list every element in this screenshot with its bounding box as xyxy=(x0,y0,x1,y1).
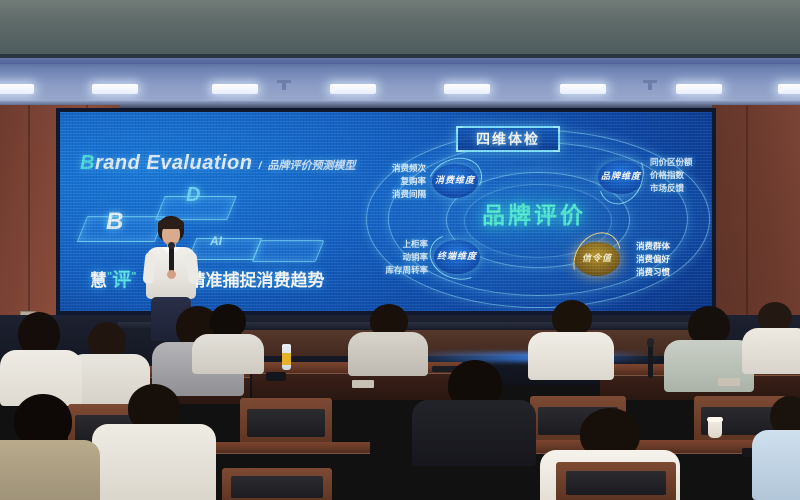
desk-microphone xyxy=(648,344,653,378)
tagline-quote-close: " xyxy=(131,270,136,282)
desk-nameplate xyxy=(352,380,374,388)
ceiling-light xyxy=(212,84,258,94)
ceiling-light xyxy=(560,84,606,94)
ceiling-sprinkler-icon xyxy=(648,80,652,90)
handheld-microphone-icon xyxy=(169,246,174,272)
diagram-items-terminal: 上柜率 动销率 库存周转率 xyxy=(354,238,428,278)
ceiling-edge xyxy=(0,101,800,108)
diagram-item: 消费频次 xyxy=(354,162,426,175)
diagram-items-brand: 同价区份额 价格指数 市场反馈 xyxy=(650,156,716,196)
slide-header: Brand Evaluation/品牌评价预测模型 xyxy=(80,152,356,175)
tagline-highlight: 评 xyxy=(112,270,131,291)
chair xyxy=(222,468,332,500)
diagram-node-terminal: 终端维度 xyxy=(434,240,480,274)
decor-platform-4 xyxy=(252,240,325,262)
ceiling-light xyxy=(330,84,376,94)
ceiling-strip xyxy=(0,58,800,64)
header-subtitle: 品牌评价预测模型 xyxy=(268,160,356,172)
diagram-item: 消费间隔 xyxy=(354,188,426,201)
coffee-cup xyxy=(708,420,722,438)
diagram-item: 价格指数 xyxy=(650,169,716,182)
tagline-part1: 慧 xyxy=(90,271,107,290)
water-bottle xyxy=(282,344,291,370)
conference-presentation-scene: Brand Evaluation/品牌评价预测模型 B D AI 慧"评"精准捕… xyxy=(0,0,800,500)
ceiling-light xyxy=(0,84,34,94)
ceiling-sprinkler-icon xyxy=(282,80,286,90)
diagram-badge-label: 四维体检 xyxy=(476,129,540,149)
diagram-item: 复购率 xyxy=(354,175,426,188)
ceiling-slab xyxy=(0,0,800,58)
slide-tagline: 慧"评"精准捕捉消费趋势 xyxy=(90,265,324,292)
ceiling-light xyxy=(676,84,722,94)
brand-title-rest: rand Evaluation xyxy=(95,152,253,174)
four-dimension-diagram: 四维体检 品牌评价 消费维度 消费频次 复购率 消费间隔 品牌维度 xyxy=(360,120,716,315)
diagram-item: 库存周转率 xyxy=(354,264,428,277)
decor-label-ai: AI xyxy=(210,234,222,248)
diagram-item: 动销率 xyxy=(354,251,428,264)
tagline-part2: 精准捕捉消费趋势 xyxy=(188,271,324,290)
ceiling-light-band xyxy=(0,58,800,104)
ceiling-light xyxy=(92,84,138,94)
diagram-item: 消费习惯 xyxy=(636,266,710,279)
diagram-node-signal-value: 信令值 xyxy=(574,242,620,276)
diagram-item: 上柜率 xyxy=(354,238,428,251)
desk-nameplate xyxy=(718,378,740,386)
diagram-item: 消费群体 xyxy=(636,240,710,253)
ceiling-light xyxy=(444,84,490,94)
diagram-center-title: 品牌评价 xyxy=(434,196,634,230)
brand-initial: B xyxy=(80,152,95,174)
diagram-item: 同价区份额 xyxy=(650,156,716,169)
chair xyxy=(240,398,332,446)
diagram-node-consumption: 消费维度 xyxy=(432,164,478,198)
chair xyxy=(556,462,676,500)
diagram-items-consumption: 消费频次 复购率 消费间隔 xyxy=(354,162,426,202)
ceiling-light xyxy=(778,84,800,94)
audience-area xyxy=(0,300,800,500)
diagram-items-signal-value: 消费群体 消费偏好 消费习惯 xyxy=(636,240,710,280)
phone xyxy=(266,372,286,381)
diagram-node-brand: 品牌维度 xyxy=(598,160,644,194)
decor-label-d: D xyxy=(186,184,200,207)
diagram-item: 市场反馈 xyxy=(650,182,716,195)
diagram-badge: 四维体检 xyxy=(456,126,560,152)
diagram-item: 消费偏好 xyxy=(636,253,710,266)
decor-label-b: B xyxy=(106,208,123,236)
header-separator: / xyxy=(258,160,261,172)
